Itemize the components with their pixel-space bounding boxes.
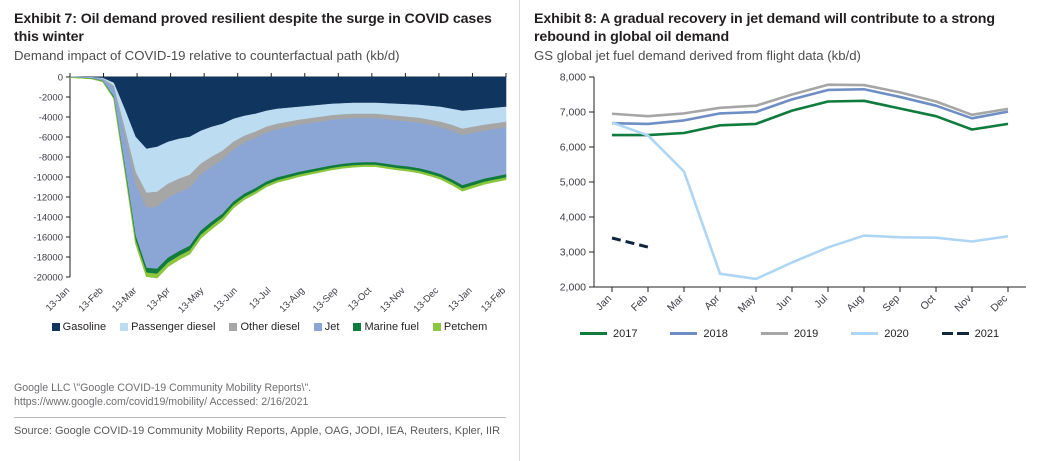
legend-label: Petchem: [444, 321, 487, 333]
exhibit-7-note-line1: Google LLC \"Google COVID-19 Community M…: [14, 381, 506, 395]
svg-text:13-Oct: 13-Oct: [346, 285, 374, 313]
svg-text:-4000: -4000: [39, 112, 63, 123]
exhibit-8-legend: 20172018201920202021: [534, 328, 1032, 340]
legend-label: 2020: [884, 328, 908, 340]
legend-item-other-diesel[interactable]: Other diesel: [229, 321, 299, 333]
svg-text:6,000: 6,000: [560, 141, 586, 153]
legend-line-icon: [580, 332, 607, 335]
exhibit-7-title: Exhibit 7: Oil demand proved resilient d…: [14, 10, 507, 46]
svg-text:-8000: -8000: [39, 152, 63, 163]
exhibit-7-panel: Exhibit 7: Oil demand proved resilient d…: [0, 0, 519, 461]
svg-text:13-Jun: 13-Jun: [211, 285, 239, 313]
legend-item-passenger-diesel[interactable]: Passenger diesel: [120, 321, 215, 333]
legend-item-marine-fuel[interactable]: Marine fuel: [353, 321, 418, 333]
exhibit-7-note-line2[interactable]: https://www.google.com/covid19/mobility/…: [14, 395, 506, 409]
svg-text:2,000: 2,000: [560, 281, 586, 293]
legend-label: Jet: [325, 321, 340, 333]
svg-text:7,000: 7,000: [560, 106, 586, 118]
jet-demand-line-chart: 2,0003,0004,0005,0006,0007,0008,000JanFe…: [534, 69, 1034, 327]
svg-text:-14000: -14000: [33, 212, 63, 223]
svg-text:-6000: -6000: [39, 132, 63, 143]
legend-label: 2019: [794, 328, 818, 340]
svg-text:Feb: Feb: [629, 292, 650, 313]
svg-text:5,000: 5,000: [560, 176, 586, 188]
svg-text:13-Feb: 13-Feb: [77, 285, 106, 314]
svg-text:13-May: 13-May: [176, 285, 206, 315]
legend-item-2021[interactable]: 2021: [942, 328, 1032, 340]
svg-text:13-Feb: 13-Feb: [479, 285, 508, 314]
svg-text:13-Sep: 13-Sep: [311, 285, 340, 314]
legend-swatch-icon: [353, 323, 361, 331]
legend-item-jet[interactable]: Jet: [314, 321, 340, 333]
legend-swatch-icon: [120, 323, 128, 331]
svg-text:13-Aug: 13-Aug: [277, 285, 306, 314]
legend-item-2018[interactable]: 2018: [670, 328, 760, 340]
svg-text:Sep: Sep: [880, 292, 902, 314]
svg-text:Jun: Jun: [774, 292, 795, 313]
legend-item-2020[interactable]: 2020: [851, 328, 941, 340]
legend-label: Passenger diesel: [131, 321, 215, 333]
legend-swatch-icon: [433, 323, 441, 331]
svg-text:Dec: Dec: [988, 292, 1010, 314]
legend-line-icon: [942, 332, 969, 335]
svg-text:-18000: -18000: [33, 252, 63, 263]
legend-item-petchem[interactable]: Petchem: [433, 321, 487, 333]
exhibit-8-chart: 2,0003,0004,0005,0006,0007,0008,000JanFe…: [534, 69, 1032, 327]
legend-label: 2018: [703, 328, 727, 340]
svg-text:13-Mar: 13-Mar: [110, 285, 139, 314]
legend-swatch-icon: [52, 323, 60, 331]
svg-text:Oct: Oct: [918, 292, 938, 312]
legend-line-icon: [851, 332, 878, 335]
exhibit-7-subtitle: Demand impact of COVID-19 relative to co…: [14, 48, 507, 65]
legend-label: Gasoline: [63, 321, 106, 333]
svg-text:Jan: Jan: [594, 292, 615, 313]
svg-text:13-Jan: 13-Jan: [446, 285, 474, 313]
svg-text:-16000: -16000: [33, 232, 63, 243]
exhibit-7-divider: [14, 417, 506, 418]
svg-text:13-Jul: 13-Jul: [247, 285, 273, 311]
svg-text:-2000: -2000: [39, 92, 63, 103]
svg-text:0: 0: [58, 72, 63, 83]
exhibit-8-subtitle: GS global jet fuel demand derived from f…: [534, 48, 1032, 65]
svg-text:13-Jan: 13-Jan: [44, 285, 72, 313]
legend-swatch-icon: [229, 323, 237, 331]
svg-text:4,000: 4,000: [560, 211, 586, 223]
exhibit-7-legend: GasolinePassenger dieselOther dieselJetM…: [14, 321, 507, 333]
legend-label: Other diesel: [240, 321, 299, 333]
svg-text:-10000: -10000: [33, 172, 63, 183]
svg-text:3,000: 3,000: [560, 246, 586, 258]
exhibit-8-panel: Exhibit 8: A gradual recovery in jet dem…: [519, 0, 1044, 461]
svg-text:13-Nov: 13-Nov: [378, 285, 408, 315]
legend-swatch-icon: [314, 323, 322, 331]
legend-item-2019[interactable]: 2019: [761, 328, 851, 340]
exhibit-7-source: Source: Google COVID-19 Community Mobili…: [14, 424, 506, 438]
legend-item-2017[interactable]: 2017: [580, 328, 670, 340]
exhibits-page: Exhibit 7: Oil demand proved resilient d…: [0, 0, 1044, 461]
svg-text:-20000: -20000: [33, 272, 63, 283]
svg-text:May: May: [736, 292, 759, 315]
svg-text:Jul: Jul: [812, 292, 830, 310]
legend-label: Marine fuel: [364, 321, 418, 333]
svg-text:13-Apr: 13-Apr: [145, 285, 173, 313]
stacked-area-chart: 0-2000-4000-6000-8000-10000-12000-14000-…: [14, 69, 514, 319]
svg-text:Nov: Nov: [952, 292, 974, 314]
legend-line-icon: [670, 332, 697, 335]
svg-text:Apr: Apr: [702, 292, 722, 312]
svg-text:Aug: Aug: [844, 292, 866, 314]
exhibit-8-title: Exhibit 8: A gradual recovery in jet dem…: [534, 10, 1032, 46]
svg-text:8,000: 8,000: [560, 71, 586, 83]
exhibit-7-chart: 0-2000-4000-6000-8000-10000-12000-14000-…: [14, 69, 507, 319]
legend-label: 2017: [613, 328, 637, 340]
svg-text:Mar: Mar: [665, 292, 687, 314]
legend-label: 2021: [975, 328, 999, 340]
svg-text:13-Dec: 13-Dec: [412, 285, 442, 315]
exhibit-7-note: Google LLC \"Google COVID-19 Community M…: [14, 381, 506, 424]
legend-line-icon: [761, 332, 788, 335]
svg-text:-12000: -12000: [33, 192, 63, 203]
legend-item-gasoline[interactable]: Gasoline: [52, 321, 106, 333]
